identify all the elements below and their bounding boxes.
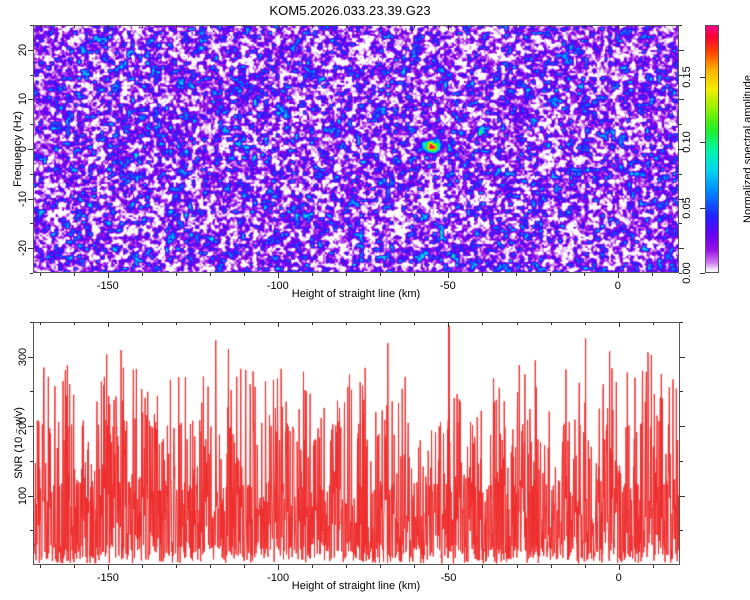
- figure-root: KOM5.2026.033.23.39.G23 -150-100-500-20-…: [0, 0, 750, 600]
- x-tick-minor: [74, 25, 75, 28]
- x-tick-label: -50: [440, 572, 456, 584]
- y-tick-right: [679, 50, 684, 51]
- y-tick-minor: [30, 391, 33, 392]
- spectrogram-heatmap: [33, 25, 679, 273]
- colorbar-tick: [700, 208, 705, 209]
- y-tick-right: [679, 248, 684, 249]
- x-tick-minor: [380, 565, 381, 568]
- y-tick-label: -20: [17, 240, 29, 256]
- colorbar-tick: [700, 142, 705, 143]
- x-tick-minor: [312, 273, 313, 276]
- x-tick-minor: [380, 273, 381, 276]
- snr-y-axis-label: SNR (10 ⁻ v/v): [12, 407, 25, 479]
- x-tick-label: 0: [615, 280, 621, 292]
- x-tick-minor: [176, 322, 177, 325]
- y-tick-right: [679, 99, 684, 100]
- y-tick-minor-right: [679, 223, 682, 224]
- x-tick-minor: [652, 25, 653, 28]
- y-tick-minor: [30, 174, 33, 175]
- x-tick-minor: [585, 565, 586, 568]
- x-tick-label: -100: [267, 280, 289, 292]
- x-tick: [619, 565, 620, 570]
- x-tick-label: -150: [97, 572, 119, 584]
- x-tick-minor: [584, 273, 585, 276]
- colorbar: [705, 25, 719, 273]
- y-tick-label: 100: [17, 486, 29, 504]
- x-tick-minor: [346, 273, 347, 276]
- x-tick-minor: [346, 322, 347, 325]
- x-tick: [278, 565, 279, 570]
- x-tick-minor: [414, 25, 415, 28]
- colorbar-tick-label: 0.15: [681, 66, 693, 87]
- x-tick-top: [448, 322, 449, 327]
- x-tick-minor: [210, 273, 211, 276]
- x-tick-minor: [652, 273, 653, 276]
- x-tick-minor: [312, 565, 313, 568]
- y-tick-minor: [30, 25, 33, 26]
- x-tick-minor: [414, 565, 415, 568]
- x-tick-minor: [516, 273, 517, 276]
- x-tick-minor: [551, 322, 552, 325]
- colorbar-tick: [700, 273, 705, 274]
- x-tick-top: [108, 322, 109, 327]
- x-tick-minor: [516, 25, 517, 28]
- x-tick-minor: [312, 25, 313, 28]
- colorbar-tick: [700, 77, 705, 78]
- x-tick-minor: [40, 322, 41, 325]
- x-tick-minor: [142, 565, 143, 568]
- x-tick-minor: [40, 273, 41, 276]
- y-tick-label: -10: [17, 191, 29, 207]
- y-tick-minor-right: [679, 174, 682, 175]
- x-tick-top: [278, 322, 279, 327]
- spectrogram-x-axis-label: Height of straight line (km): [292, 288, 420, 300]
- y-tick-minor: [30, 530, 33, 531]
- x-tick-minor: [380, 322, 381, 325]
- y-tick-minor-right: [679, 124, 682, 125]
- y-tick-minor: [30, 124, 33, 125]
- x-tick: [618, 273, 619, 278]
- y-tick-minor-right: [680, 322, 683, 323]
- x-tick-minor: [244, 273, 245, 276]
- colorbar-gradient: [705, 25, 719, 273]
- x-tick-top: [448, 25, 449, 30]
- x-tick-minor: [176, 25, 177, 28]
- x-tick-minor: [40, 25, 41, 28]
- x-tick-minor: [244, 565, 245, 568]
- x-tick-minor: [482, 273, 483, 276]
- snr-line-series: [33, 322, 680, 565]
- x-tick-top: [618, 25, 619, 30]
- x-tick-minor: [550, 273, 551, 276]
- y-tick-minor-right: [680, 461, 683, 462]
- x-tick: [448, 273, 449, 278]
- page-title: KOM5.2026.033.23.39.G23: [0, 3, 700, 18]
- y-tick-label: 20: [17, 44, 29, 56]
- y-tick-minor-right: [679, 25, 682, 26]
- x-tick-minor: [414, 322, 415, 325]
- x-tick-minor: [482, 25, 483, 28]
- x-tick-minor: [414, 273, 415, 276]
- x-tick-minor: [517, 565, 518, 568]
- x-tick-minor: [482, 322, 483, 325]
- y-tick-minor: [30, 75, 33, 76]
- x-tick-label: 0: [616, 572, 622, 584]
- colorbar-label: Normalized spectral amplitude: [742, 75, 750, 223]
- x-tick-minor: [346, 25, 347, 28]
- x-tick-minor: [550, 25, 551, 28]
- y-tick-right: [680, 357, 685, 358]
- x-tick-minor: [551, 565, 552, 568]
- x-tick: [108, 273, 109, 278]
- colorbar-tick-label: 0.00: [681, 262, 693, 283]
- x-tick-minor: [210, 565, 211, 568]
- x-tick-minor: [585, 322, 586, 325]
- x-tick-minor: [380, 25, 381, 28]
- x-tick-top: [619, 322, 620, 327]
- x-tick: [448, 565, 449, 570]
- spectrogram-y-axis-label: Frequency (Hz): [12, 111, 24, 187]
- x-tick-minor: [653, 565, 654, 568]
- x-tick-minor: [74, 322, 75, 325]
- spectrogram-plot-area: [33, 25, 679, 273]
- x-tick-minor: [244, 25, 245, 28]
- x-tick-minor: [346, 565, 347, 568]
- y-tick-minor: [30, 273, 33, 274]
- x-tick-minor: [584, 25, 585, 28]
- x-tick-minor: [142, 322, 143, 325]
- x-tick-minor: [74, 273, 75, 276]
- x-tick-minor: [176, 565, 177, 568]
- y-tick-minor-right: [680, 391, 683, 392]
- y-tick-label: 10: [17, 93, 29, 105]
- y-tick-label: 300: [17, 348, 29, 366]
- x-tick-minor: [142, 273, 143, 276]
- snr-x-axis-label: Height of straight line (km): [292, 580, 420, 592]
- x-tick-top: [108, 25, 109, 30]
- x-tick: [108, 565, 109, 570]
- x-tick-minor: [312, 322, 313, 325]
- x-tick-minor: [482, 565, 483, 568]
- x-tick-minor: [210, 25, 211, 28]
- x-tick-label: -50: [440, 280, 456, 292]
- snr-plot-area: [33, 322, 680, 565]
- y-tick-minor-right: [680, 530, 683, 531]
- x-tick-top: [278, 25, 279, 30]
- colorbar-tick-label: 0.05: [681, 197, 693, 218]
- x-tick-minor: [142, 25, 143, 28]
- y-tick-minor: [30, 322, 33, 323]
- y-tick-right: [680, 496, 685, 497]
- x-tick-minor: [40, 565, 41, 568]
- y-tick-minor: [30, 461, 33, 462]
- x-tick: [278, 273, 279, 278]
- x-tick-label: -100: [267, 572, 289, 584]
- x-tick-minor: [210, 322, 211, 325]
- colorbar-tick-label: 0.10: [681, 132, 693, 153]
- x-tick-minor: [176, 273, 177, 276]
- x-tick-minor: [653, 322, 654, 325]
- y-tick-right: [680, 426, 685, 427]
- x-tick-minor: [517, 322, 518, 325]
- x-tick-label: -150: [97, 280, 119, 292]
- x-tick-minor: [244, 322, 245, 325]
- x-tick-minor: [74, 565, 75, 568]
- y-tick-minor: [30, 223, 33, 224]
